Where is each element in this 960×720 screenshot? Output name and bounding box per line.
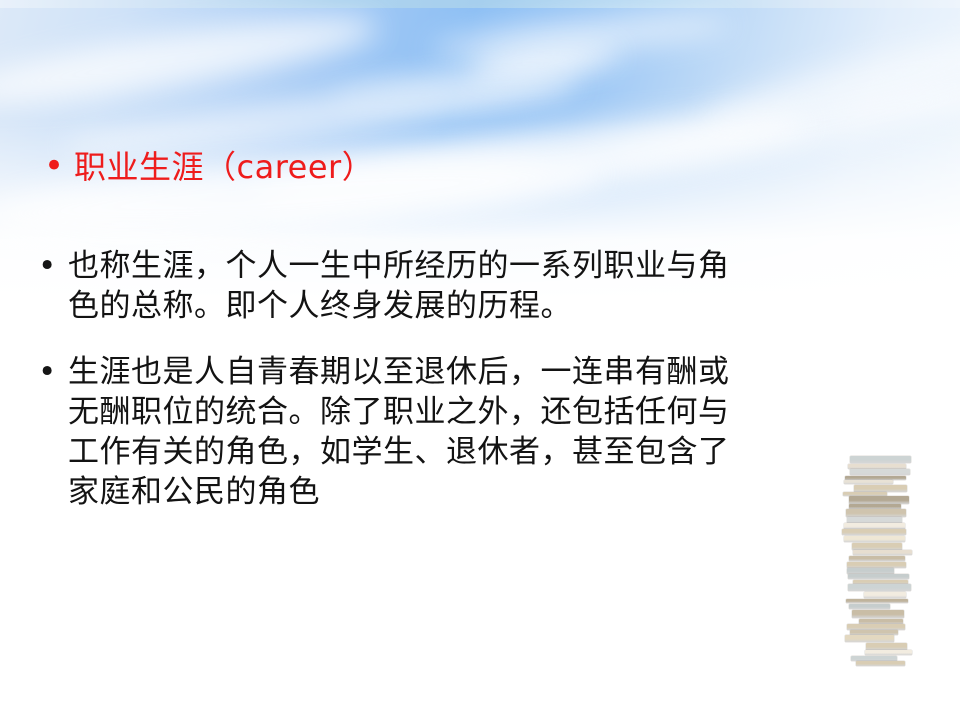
book-in-stack	[854, 485, 907, 492]
book-in-stack	[846, 509, 906, 517]
bullet-item-career-term: • 职业生涯（career）	[44, 146, 904, 188]
book-in-stack	[844, 536, 905, 542]
bullet-marker-icon: •	[38, 352, 68, 392]
book-in-stack	[844, 480, 893, 484]
book-in-stack	[849, 604, 890, 609]
bullet-marker-icon: •	[44, 146, 74, 186]
bullet-text-career-scope: 生涯也是人自青春期以至退休后，一连串有酬或 无酬职位的统合。除了职业之外，还包括…	[68, 352, 878, 512]
book-in-stack	[856, 661, 905, 666]
book-in-stack	[850, 456, 911, 463]
book-in-stack	[866, 643, 907, 650]
book-in-stack	[846, 599, 908, 603]
book-in-stack	[848, 574, 909, 579]
book-in-stack	[849, 496, 909, 504]
bullet-marker-icon: •	[38, 246, 68, 286]
bullet-text-career-term: 职业生涯（career）	[74, 146, 904, 188]
book-in-stack	[842, 529, 906, 535]
slide-canvas: • 职业生涯（career） • 也称生涯，个人一生中所经历的一系列职业与角 色…	[0, 0, 960, 720]
book-in-stack	[850, 469, 910, 475]
slide-content: • 职业生涯（career） • 也称生涯，个人一生中所经历的一系列职业与角 色…	[0, 0, 960, 720]
bullet-item-career-definition: • 也称生涯，个人一生中所经历的一系列职业与角 色的总称。即个人终身发展的历程。	[38, 246, 878, 326]
book-in-stack	[864, 592, 906, 598]
bullet-item-career-scope: • 生涯也是人自青春期以至退休后，一连串有酬或 无酬职位的统合。除了职业之外，还…	[38, 352, 878, 512]
bullet-text-career-definition: 也称生涯，个人一生中所经历的一系列职业与角 色的总称。即个人终身发展的历程。	[68, 246, 878, 326]
book-stack-image	[842, 452, 912, 714]
book-in-stack	[848, 584, 911, 591]
book-in-stack	[852, 543, 902, 550]
book-in-stack	[853, 550, 912, 555]
book-in-stack	[845, 635, 894, 642]
book-in-stack	[865, 650, 912, 655]
book-in-stack	[849, 556, 905, 561]
book-in-stack	[852, 610, 904, 618]
